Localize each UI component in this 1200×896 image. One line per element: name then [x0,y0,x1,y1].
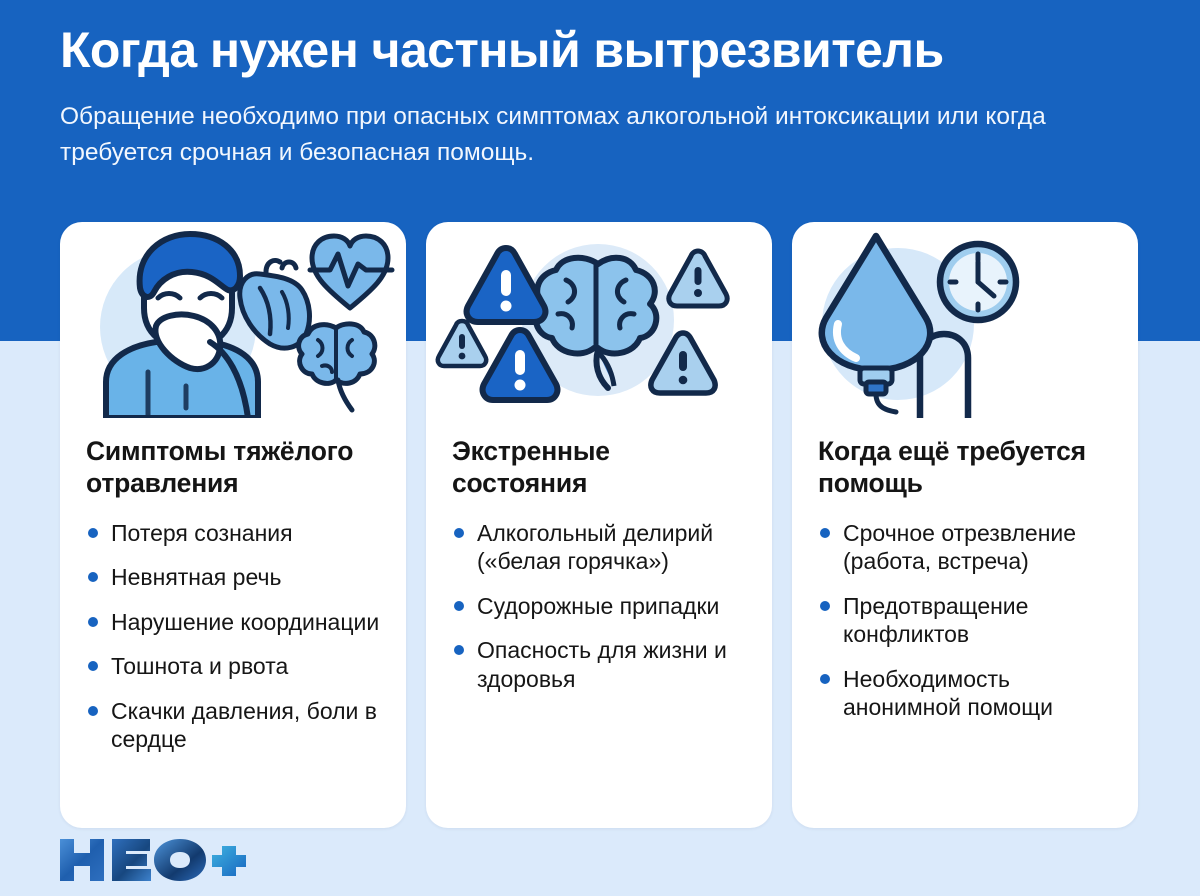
card-title: Когда ещё требуется помощь [818,436,1112,500]
cards-row: Симптомы тяжёлого отравления Потеря созн… [60,222,1138,828]
logo-letter-o [154,839,206,881]
bullet-dot-icon [454,601,464,611]
list-item: Судорожные припадки [452,592,746,621]
illustration-sick-man-heart-brain [60,222,406,418]
list-item: Потеря сознания [86,519,380,548]
page-subtitle: Обращение необходимо при опасных симптом… [60,99,1090,170]
warning-triangle-icon [669,251,727,306]
list-item: Срочное отрезвление (работа, встреча) [818,519,1112,576]
page-title: Когда нужен частный вытрезвитель [60,22,1140,78]
bullet-dot-icon [820,601,830,611]
bullet-dot-icon [820,528,830,538]
card-other-help[interactable]: Когда ещё требуется помощь Срочное отрез… [792,222,1138,828]
list-item-text: Скачки давления, боли в сердце [111,698,377,753]
bullet-list: Алкогольный делирий («белая горячка») Су… [452,519,746,694]
bullet-dot-icon [88,572,98,582]
logo-plus-icon [212,846,246,876]
list-item-text: Тошнота и рвота [111,653,288,679]
list-item: Необходимость анонимной помощи [818,665,1112,722]
card-title: Симптомы тяжёлого отравления [86,436,380,500]
bullet-dot-icon [454,645,464,655]
clock-icon [940,244,1016,320]
list-item-text: Потеря сознания [111,520,293,546]
warning-triangle-icon [467,248,546,322]
card-emergency-states[interactable]: Экстренные состояния Алкогольный делирий… [426,222,772,828]
list-item-text: Предотвращение конфликтов [843,593,1028,648]
list-item-text: Необходимость анонимной помощи [843,666,1053,721]
list-item-text: Невнятная речь [111,564,281,590]
list-item-text: Нарушение координации [111,609,379,635]
bullet-dot-icon [88,528,98,538]
list-item: Тошнота и рвота [86,652,380,681]
bullet-list: Потеря сознания Невнятная речь Нарушение… [86,519,380,754]
list-item: Предотвращение конфликтов [818,592,1112,649]
page-header: Когда нужен частный вытрезвитель Обращен… [0,0,1200,170]
list-item-text: Алкогольный делирий («белая горячка») [477,520,713,575]
list-item: Невнятная речь [86,563,380,592]
list-item-text: Опасность для жизни и здоровья [477,637,727,692]
list-item: Нарушение координации [86,608,380,637]
bullet-dot-icon [820,674,830,684]
card-severe-poisoning[interactable]: Симптомы тяжёлого отравления Потеря созн… [60,222,406,828]
card-body: Когда ещё требуется помощь Срочное отрез… [792,418,1138,744]
logo-letter-e [112,839,151,881]
illustration-brain-warning-triangles [426,222,772,418]
brand-logo[interactable] [58,838,248,882]
illustration-iv-drip-clock-stand [792,222,1138,418]
list-item-text: Срочное отрезвление (работа, встреча) [843,520,1076,575]
list-item: Алкогольный делирий («белая горячка») [452,519,746,576]
card-title: Экстренные состояния [452,436,746,500]
logo-letter-n [60,839,104,881]
bullet-dot-icon [88,661,98,671]
bullet-dot-icon [88,706,98,716]
card-body: Экстренные состояния Алкогольный делирий… [426,418,772,715]
list-item: Опасность для жизни и здоровья [452,636,746,693]
bullet-dot-icon [454,528,464,538]
card-body: Симптомы тяжёлого отравления Потеря созн… [60,418,406,776]
warning-triangle-icon [438,321,486,366]
bullet-dot-icon [88,617,98,627]
bullet-list: Срочное отрезвление (работа, встреча) Пр… [818,519,1112,722]
list-item-text: Судорожные припадки [477,593,719,619]
list-item: Скачки давления, боли в сердце [86,697,380,754]
